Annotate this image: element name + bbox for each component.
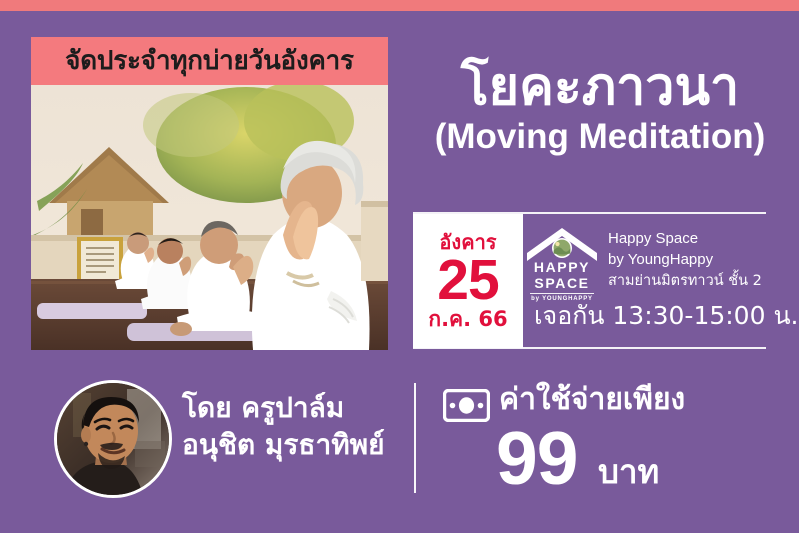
meditation-photo	[31, 85, 388, 350]
instructor-name-block: โดย ครูปาล์ม อนุชิต มุรธาทิพย์	[182, 390, 385, 464]
logo-divider	[530, 293, 594, 294]
instructor-line-2: อนุชิต มุรธาทิพย์	[182, 427, 385, 464]
event-poster: จัดประจำทุกบ่ายวันอังคาร	[0, 0, 799, 533]
venue-line-2: by YoungHappy	[608, 249, 798, 270]
price-amount: 99	[496, 421, 577, 496]
instructor-line-1: โดย ครูปาล์ม	[182, 390, 385, 427]
venue-line-1: Happy Space	[608, 228, 798, 249]
price-label: ค่าใช้จ่ายเพียง	[499, 385, 685, 415]
logo-line-happy: HAPPY	[524, 260, 600, 274]
house-roof-icon	[524, 224, 600, 264]
date-card: อังคาร 25 ก.ค. 66	[413, 214, 523, 348]
event-title: โยคะภาวนา (Moving Meditation)	[405, 60, 795, 157]
recurring-schedule-banner: จัดประจำทุกบ่ายวันอังคาร	[31, 37, 388, 85]
event-title-thai: โยคะภาวนา	[405, 60, 795, 115]
meeting-time: เจอกัน 13:30-15:00 น.	[534, 303, 798, 328]
date-month-year: ก.ค. 66	[428, 309, 507, 330]
venue-line-3: สามย่านมิตรทาวน์ ชั้น 2	[608, 271, 798, 292]
recurring-schedule-text: จัดประจำทุกบ่ายวันอังคาร	[65, 48, 354, 74]
date-day-number: 25	[437, 253, 498, 307]
logo-line-space: SPACE	[524, 276, 600, 290]
price-currency-unit: บาท	[598, 455, 659, 488]
event-title-english: (Moving Meditation)	[405, 117, 795, 157]
top-accent-band	[0, 0, 799, 11]
instructor-avatar	[54, 380, 172, 498]
bottom-vertical-divider	[414, 383, 416, 493]
happy-space-logo: HAPPY SPACE by YOUNGHAPPY	[524, 224, 600, 292]
banknote-icon	[443, 389, 490, 422]
venue-block: Happy Space by YoungHappy สามย่านมิตรทาว…	[608, 228, 798, 291]
